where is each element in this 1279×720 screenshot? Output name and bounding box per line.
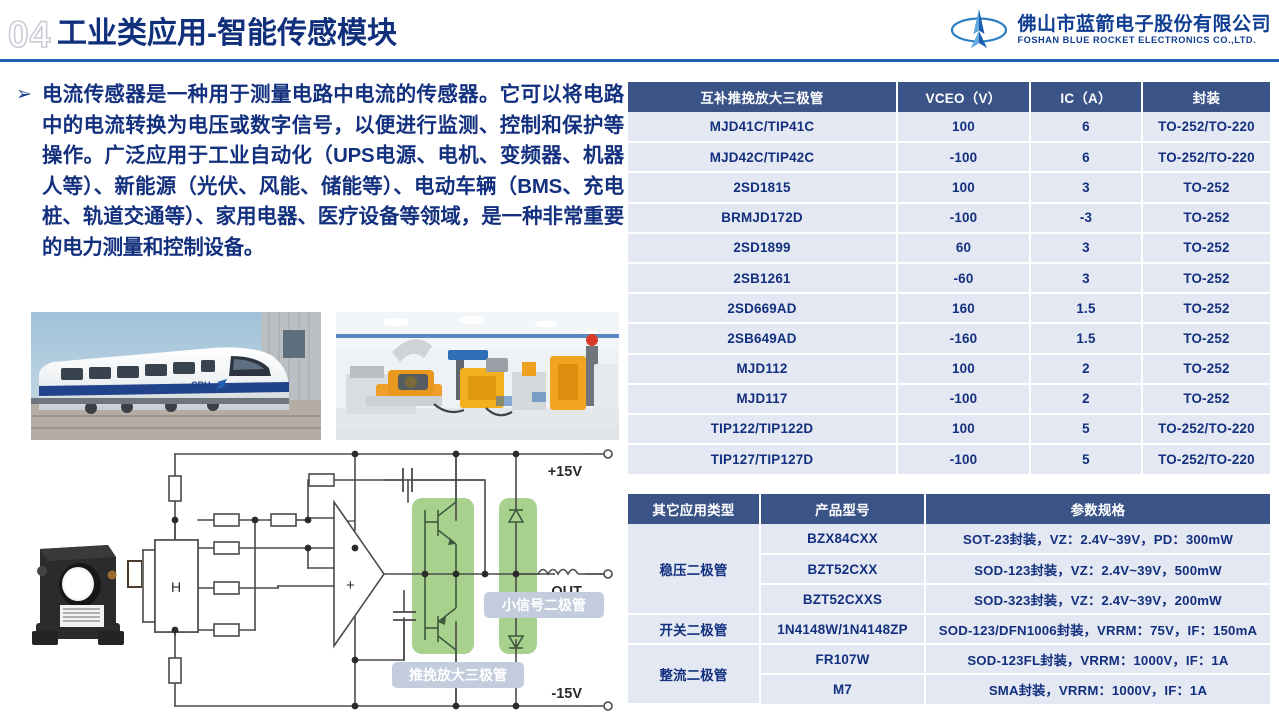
cell-model: FR107W — [760, 644, 925, 674]
current-sensor-circuit-diagram: H − + — [138, 440, 624, 720]
cell-package: TO-252 — [1142, 384, 1270, 414]
cell-ic: 2 — [1030, 384, 1142, 414]
cell-vceo: 100 — [897, 414, 1030, 444]
slide-header: 04 工业类应用-智能传感模块 佛山市蓝箭电子股份有限公司 FOSHAN BLU… — [0, 0, 1279, 62]
col-header-ic: IC（A） — [1030, 82, 1142, 112]
cell-part: MJD42C/TIP42C — [628, 142, 897, 172]
col-header-package: 封装 — [1142, 82, 1270, 112]
col-header-part: 互补推挽放大三极管 — [628, 82, 897, 112]
cell-spec: SOD-323封装，VZ：2.4V~39V，200mW — [925, 584, 1270, 614]
cell-model: BZX84CXX — [760, 524, 925, 554]
cell-package: TO-252/TO-220 — [1142, 444, 1270, 474]
other-table-body: 稳压二极管BZX84CXXSOT-23封装，VZ：2.4V~39V，PD：300… — [628, 524, 1270, 704]
hall-label: H — [171, 579, 181, 595]
cell-ic: 3 — [1030, 233, 1142, 263]
cell-vceo: 100 — [897, 112, 1030, 142]
cell-package: TO-252 — [1142, 293, 1270, 323]
cell-part: 2SD1899 — [628, 233, 897, 263]
table-row: TIP127/TIP127D-1005TO-252/TO-220 — [628, 444, 1270, 474]
col-header-model: 产品型号 — [760, 494, 925, 524]
cell-application-type: 稳压二极管 — [628, 524, 760, 614]
blue-rocket-logo-icon — [950, 8, 1008, 52]
description-bullet: ➢ 电流传感器是一种用于测量电路中电流的传感器。它可以将电路中的电流转换为电压或… — [16, 80, 624, 263]
cell-ic: 5 — [1030, 414, 1142, 444]
cell-package: TO-252 — [1142, 203, 1270, 233]
cell-model: BZT52CXXS — [760, 584, 925, 614]
cell-package: TO-252/TO-220 — [1142, 414, 1270, 444]
description-text: 电流传感器是一种用于测量电路中电流的传感器。它可以将电路中的电流转换为电压或数字… — [42, 80, 624, 263]
automated-factory-photo — [336, 312, 619, 440]
cell-package: TO-252/TO-220 — [1142, 112, 1270, 142]
cell-vceo: 100 — [897, 354, 1030, 384]
table-header-row: 互补推挽放大三极管 VCEO（V） IC（A） 封装 — [628, 82, 1270, 112]
cell-part: 2SD669AD — [628, 293, 897, 323]
rail-negative-label: -15V — [551, 686, 582, 702]
cell-part: 2SD1815 — [628, 172, 897, 202]
cell-part: 2SB649AD — [628, 323, 897, 353]
table-row: BRMJD172D-100-3TO-252 — [628, 203, 1270, 233]
high-speed-train-photo: CRH — [31, 312, 321, 440]
cell-part: MJD112 — [628, 354, 897, 384]
cell-package: TO-252 — [1142, 172, 1270, 202]
cell-package: TO-252 — [1142, 354, 1270, 384]
table-row: 稳压二极管BZX84CXXSOT-23封装，VZ：2.4V~39V，PD：300… — [628, 524, 1270, 554]
cell-ic: 6 — [1030, 142, 1142, 172]
cell-spec: SOT-23封装，VZ：2.4V~39V，PD：300mW — [925, 524, 1270, 554]
svg-text:+: + — [346, 577, 355, 594]
table-row: 2SD669AD1601.5TO-252 — [628, 293, 1270, 323]
table-row: MJD117-1002TO-252 — [628, 384, 1270, 414]
col-header-spec: 参数规格 — [925, 494, 1270, 524]
company-name-en: FOSHAN BLUE ROCKET ELECTRONICS CO.,LTD. — [1017, 35, 1271, 46]
cell-vceo: -160 — [897, 323, 1030, 353]
slide-root: 04 工业类应用-智能传感模块 佛山市蓝箭电子股份有限公司 FOSHAN BLU… — [0, 0, 1279, 720]
table-row: MJD1121002TO-252 — [628, 354, 1270, 384]
table-row: 2SB1261-603TO-252 — [628, 263, 1270, 293]
table-row: MJD42C/TIP42C-1006TO-252/TO-220 — [628, 142, 1270, 172]
cell-part: 2SB1261 — [628, 263, 897, 293]
table-row: 2SD1899603TO-252 — [628, 233, 1270, 263]
company-name-block: 佛山市蓝箭电子股份有限公司 FOSHAN BLUE ROCKET ELECTRO… — [1017, 14, 1271, 47]
cell-ic: 2 — [1030, 354, 1142, 384]
opamp-symbol — [334, 502, 384, 646]
callout-push-pull-transistor: 推挽放大三极管 — [392, 662, 524, 688]
col-header-apptype: 其它应用类型 — [628, 494, 760, 524]
table-header-row: 其它应用类型 产品型号 参数规格 — [628, 494, 1270, 524]
cell-ic: 5 — [1030, 444, 1142, 474]
cell-vceo: 160 — [897, 293, 1030, 323]
cell-model: 1N4148W/1N4148ZP — [760, 614, 925, 644]
cell-ic: -3 — [1030, 203, 1142, 233]
cell-spec: SMA封装，VRRM：1000V，IF：1A — [925, 674, 1270, 704]
company-name-cn: 佛山市蓝箭电子股份有限公司 — [1017, 14, 1271, 36]
cell-package: TO-252 — [1142, 233, 1270, 263]
cell-package: TO-252 — [1142, 323, 1270, 353]
cell-spec: SOD-123/DFN1006封装，VRRM：75V，IF：150mA — [925, 614, 1270, 644]
table-row: TIP122/TIP122D1005TO-252/TO-220 — [628, 414, 1270, 444]
cell-application-type: 开关二极管 — [628, 614, 760, 644]
cell-package: TO-252 — [1142, 263, 1270, 293]
current-sensor-product-photo — [20, 527, 142, 655]
svg-text:CRH: CRH — [191, 380, 211, 390]
transistor-table-body: MJD41C/TIP41C1006TO-252/TO-220MJD42C/TIP… — [628, 112, 1270, 474]
table-row: MJD41C/TIP41C1006TO-252/TO-220 — [628, 112, 1270, 142]
other-application-table: 其它应用类型 产品型号 参数规格 稳压二极管BZX84CXXSOT-23封装，V… — [628, 494, 1270, 705]
svg-text:−: − — [347, 513, 356, 530]
cell-part: MJD117 — [628, 384, 897, 414]
cell-vceo: -100 — [897, 444, 1030, 474]
company-logo: 佛山市蓝箭电子股份有限公司 FOSHAN BLUE ROCKET ELECTRO… — [950, 8, 1271, 52]
svg-text:推挽放大三极管: 推挽放大三极管 — [409, 667, 507, 683]
table-row: 整流二极管FR107WSOD-123FL封装，VRRM：1000V，IF：1A — [628, 644, 1270, 674]
header-divider — [0, 59, 1279, 62]
cell-application-type: 整流二极管 — [628, 644, 760, 704]
table-row: 2SB649AD-1601.5TO-252 — [628, 323, 1270, 353]
section-number: 04 — [8, 16, 51, 53]
cell-spec: SOD-123FL封装，VRRM：1000V，IF：1A — [925, 644, 1270, 674]
push-pull-highlight — [412, 498, 474, 654]
page-title: 工业类应用-智能传感模块 — [57, 14, 397, 53]
transistor-spec-table: 互补推挽放大三极管 VCEO（V） IC（A） 封装 MJD41C/TIP41C… — [628, 82, 1270, 474]
cell-vceo: -100 — [897, 203, 1030, 233]
cell-vceo: 100 — [897, 172, 1030, 202]
cell-ic: 1.5 — [1030, 323, 1142, 353]
svg-text:小信号二极管: 小信号二极管 — [502, 597, 586, 613]
cell-ic: 1.5 — [1030, 293, 1142, 323]
cell-package: TO-252/TO-220 — [1142, 142, 1270, 172]
cell-vceo: -100 — [897, 384, 1030, 414]
cell-model: M7 — [760, 674, 925, 704]
table-row: 开关二极管1N4148W/1N4148ZPSOD-123/DFN1006封装，V… — [628, 614, 1270, 644]
cell-part: BRMJD172D — [628, 203, 897, 233]
cell-ic: 3 — [1030, 172, 1142, 202]
col-header-vceo: VCEO（V） — [897, 82, 1030, 112]
table-row: 2SD18151003TO-252 — [628, 172, 1270, 202]
cell-part: MJD41C/TIP41C — [628, 112, 897, 142]
rail-positive-label: +15V — [548, 464, 583, 480]
cell-ic: 3 — [1030, 263, 1142, 293]
callout-small-signal-diode: 小信号二极管 — [484, 592, 604, 618]
cell-part: TIP127/TIP127D — [628, 444, 897, 474]
bullet-arrow-icon: ➢ — [16, 80, 36, 263]
cell-model: BZT52CXX — [760, 554, 925, 584]
cell-part: TIP122/TIP122D — [628, 414, 897, 444]
cell-vceo: -60 — [897, 263, 1030, 293]
cell-spec: SOD-123封装，VZ：2.4V~39V，500mW — [925, 554, 1270, 584]
cell-vceo: 60 — [897, 233, 1030, 263]
cell-ic: 6 — [1030, 112, 1142, 142]
cell-vceo: -100 — [897, 142, 1030, 172]
